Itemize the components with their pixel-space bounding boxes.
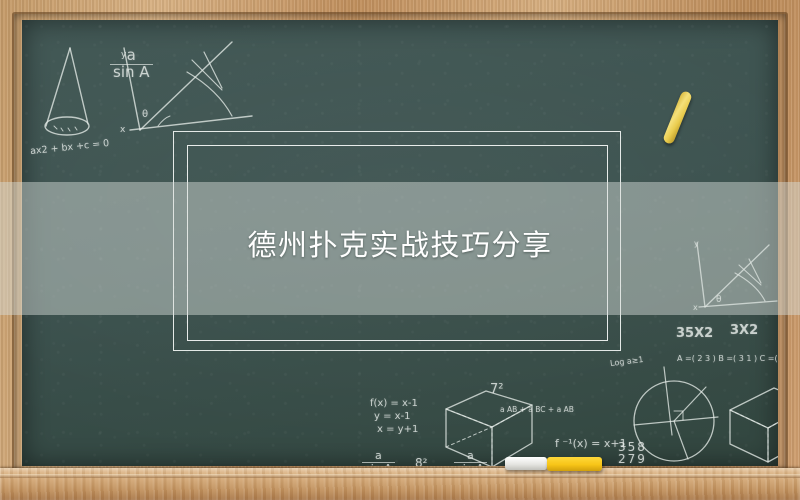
- multiplication-note-3x2: 3X2: [730, 323, 758, 338]
- square-note-7: 7²: [490, 382, 503, 397]
- cube-diagram-right: [722, 382, 778, 466]
- fraction-denominator: sin A: [362, 463, 395, 466]
- chalk-tray-ledge: [0, 468, 800, 500]
- square-note-8: 8²: [415, 456, 427, 466]
- ledge-lip: [0, 474, 800, 478]
- addition-operand-b: 279: [618, 452, 647, 466]
- fraction-a-over-sinA-bottomleft: a sin A: [362, 450, 395, 466]
- fraction-denominator: sin A: [454, 463, 487, 466]
- angle-theta-topleft: θ: [142, 109, 148, 120]
- function-note-x: x = y+1: [377, 424, 418, 435]
- yellow-chalk-piece: [547, 457, 602, 471]
- page-title: 德州扑克实战技巧分享: [0, 222, 800, 264]
- axis-label-x-topleft: x: [120, 125, 125, 135]
- fraction-numerator: a: [454, 450, 487, 463]
- matrix-note: A =( 2 3 ) B =( 3 1 ) C =( 5 2 ): [677, 354, 778, 363]
- chalkboard-banner: a sin A y x θ ax2 + bx +c = 0 y x: [0, 0, 800, 500]
- white-chalk-piece: [505, 457, 547, 470]
- axis-label-y-topleft: y: [121, 50, 126, 60]
- set-expression-note: a AB + a BC + a AB: [500, 405, 574, 414]
- multiplication-note-35x2: 35X2: [676, 326, 713, 341]
- fraction-a-over-sinA-bottomcenter: a sin A: [454, 450, 487, 466]
- angle-theta-right: θ: [716, 295, 722, 305]
- function-note-y: y = x-1: [374, 411, 411, 422]
- cone-diagram-icon: [30, 40, 100, 150]
- fraction-numerator: a: [362, 450, 395, 463]
- function-note-fx: f(x) = x-1: [370, 398, 418, 409]
- axis-label-x-right: x: [693, 303, 698, 312]
- inverse-function-note: f ⁻¹(x) = x+1: [555, 437, 627, 450]
